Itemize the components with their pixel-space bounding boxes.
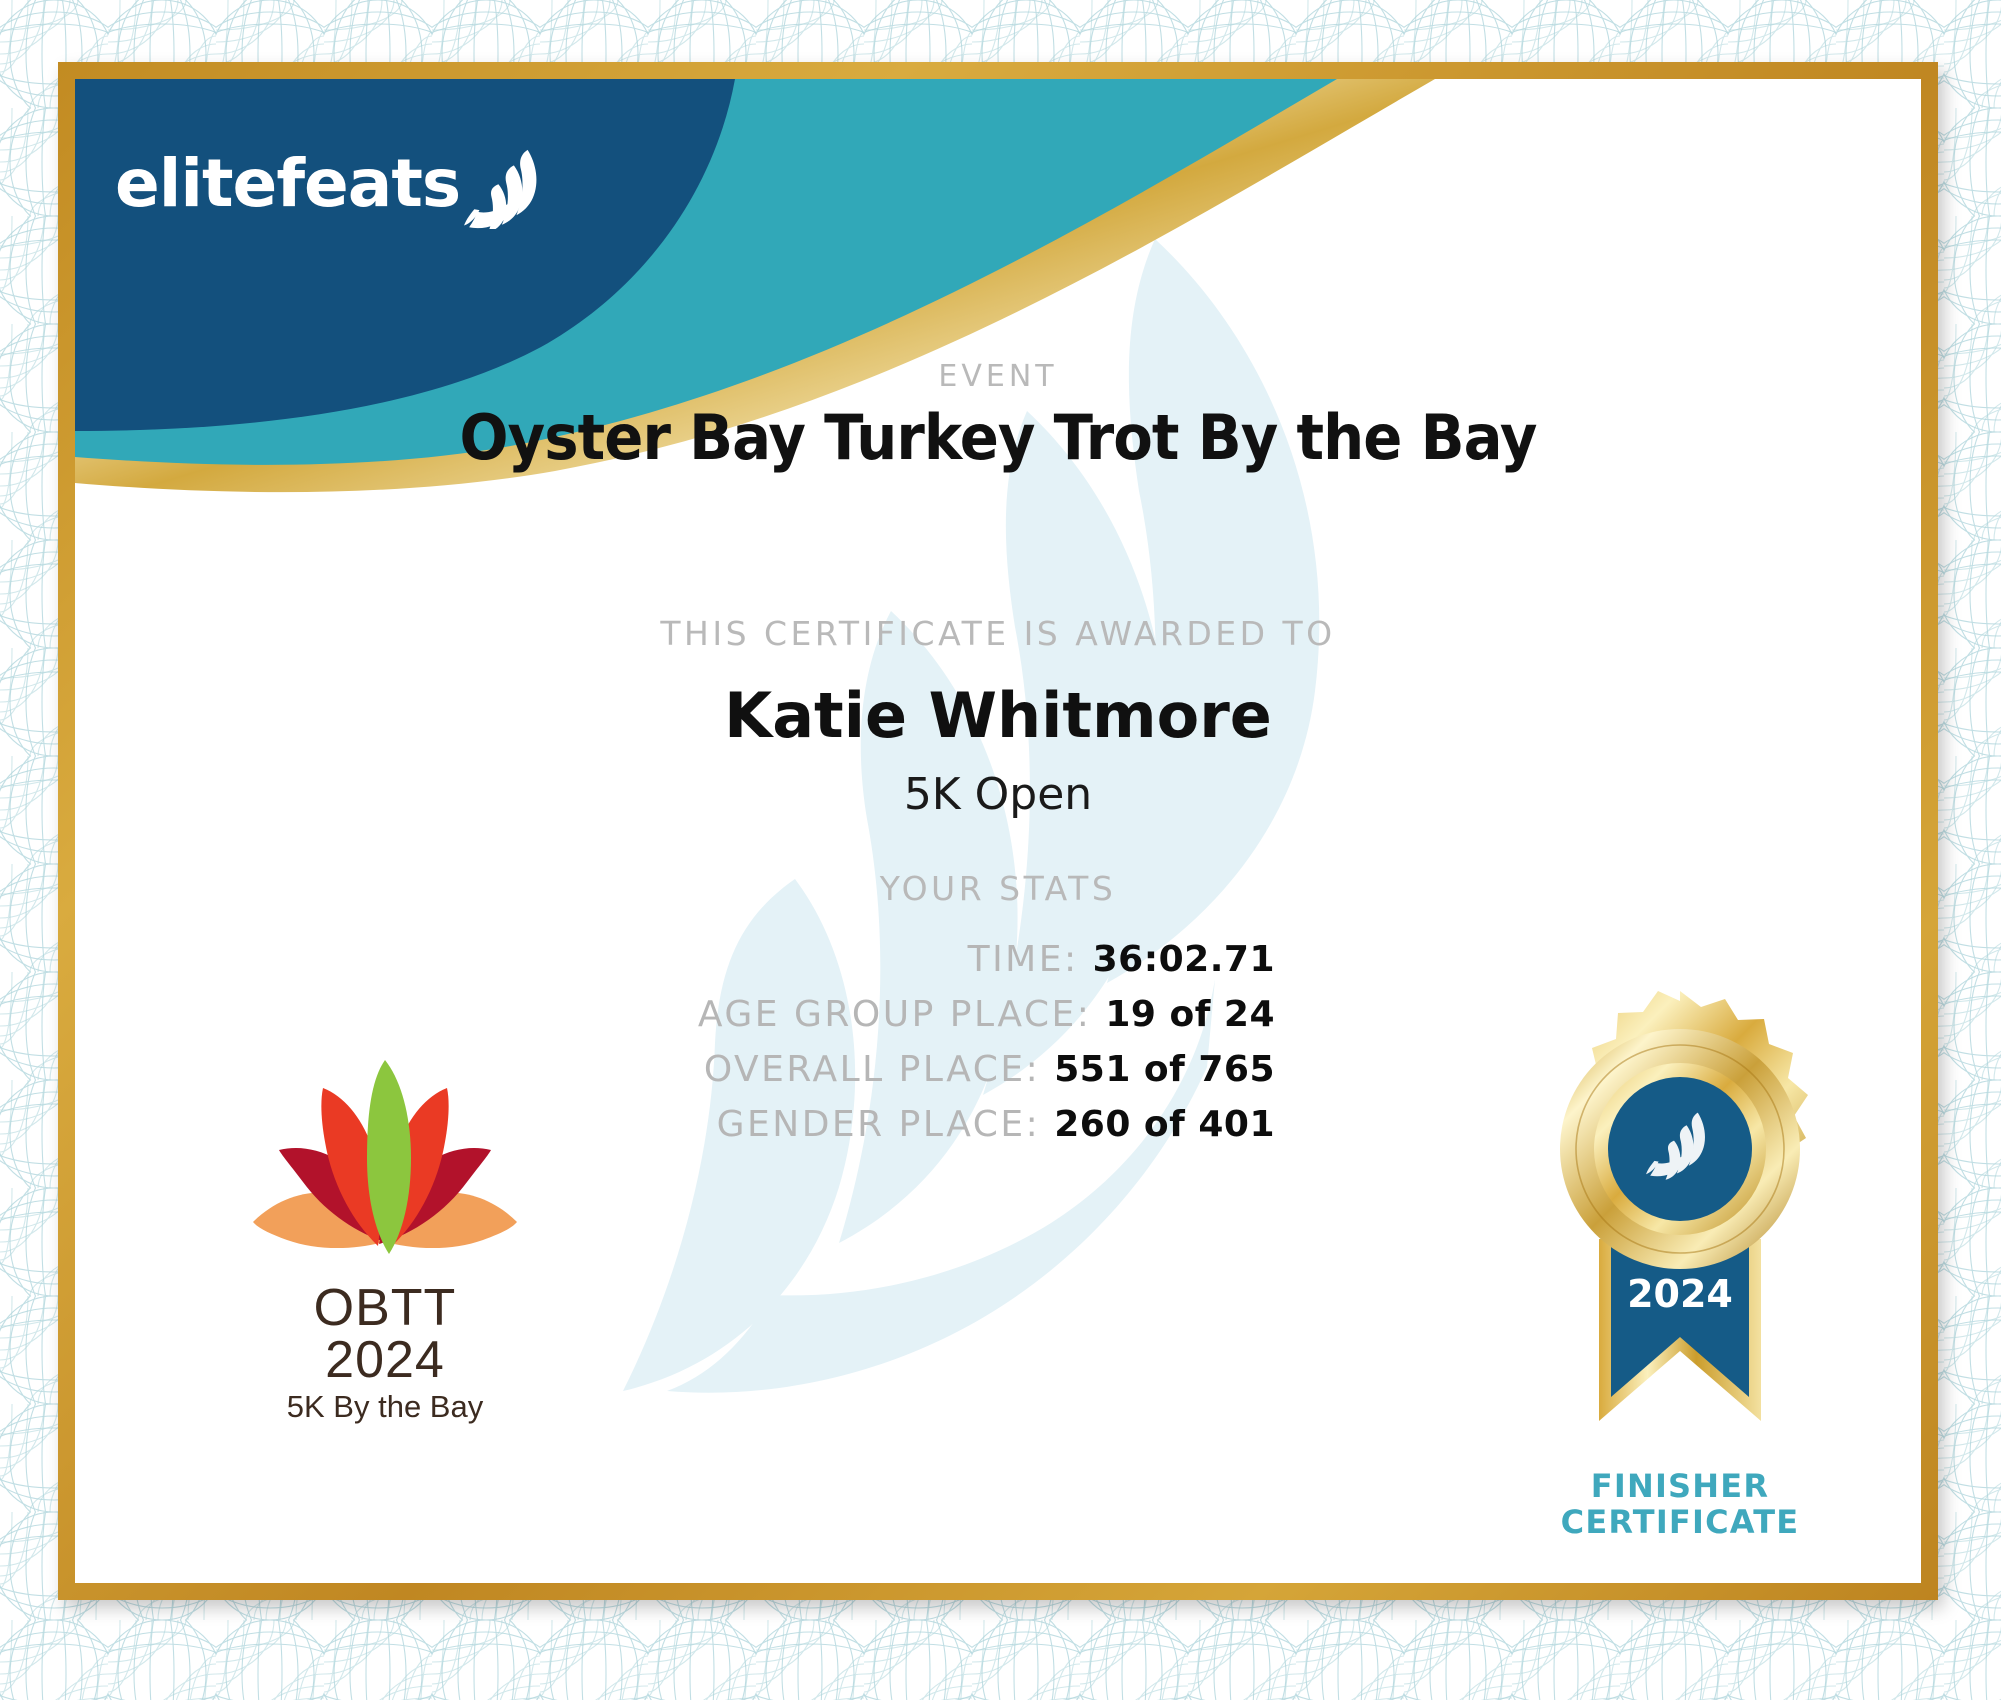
obtt-year: 2024 xyxy=(235,1334,535,1386)
event-label: EVENT xyxy=(75,359,1921,394)
certificate-gold-frame: elitefeats EVENT Oyster Bay Turkey Trot … xyxy=(58,62,1938,1600)
stat-row-time: TIME: 36:02.71 xyxy=(75,939,1275,980)
stat-label-time: TIME: xyxy=(968,939,1079,980)
medal-caption: FINISHER CERTIFICATE xyxy=(1515,1469,1845,1541)
certificate-paper: elitefeats EVENT Oyster Bay Turkey Trot … xyxy=(75,79,1921,1583)
stat-label-gender-place: GENDER PLACE: xyxy=(717,1104,1041,1145)
gold-rosette-medal-icon: 2024 xyxy=(1515,989,1845,1459)
stat-value-time: 36:02.71 xyxy=(1093,939,1275,980)
awarded-to-label: THIS CERTIFICATE IS AWARDED TO xyxy=(75,614,1921,653)
medal-caption-line-1: FINISHER xyxy=(1515,1469,1845,1505)
stat-value-overall-place: 551 of 765 xyxy=(1054,1049,1275,1090)
stat-row-age-group-place: AGE GROUP PLACE: 19 of 24 xyxy=(75,994,1275,1035)
obtt-abbreviation: OBTT xyxy=(235,1282,535,1334)
stat-value-gender-place: 260 of 401 xyxy=(1054,1104,1275,1145)
elitefeats-wordmark: elitefeats xyxy=(115,145,460,222)
turkey-feather-fan-icon xyxy=(235,1054,535,1290)
obtt-logo-text: OBTT 2024 5K By the Bay xyxy=(235,1282,535,1422)
your-stats-label: YOUR STATS xyxy=(75,869,1921,908)
stat-value-age-group-place: 19 of 24 xyxy=(1105,994,1275,1035)
medal-ribbon-year: 2024 xyxy=(1627,1272,1733,1316)
finisher-medal: 2024 xyxy=(1515,989,1845,1549)
stat-label-age-group-place: AGE GROUP PLACE: xyxy=(698,994,1091,1035)
division-name: 5K Open xyxy=(75,769,1921,820)
stat-label-overall-place: OVERALL PLACE: xyxy=(704,1049,1040,1090)
recipient-name: Katie Whitmore xyxy=(75,679,1921,752)
elitefeats-logo: elitefeats xyxy=(115,137,550,229)
obtt-tagline: 5K By the Bay xyxy=(235,1391,535,1422)
event-name: Oyster Bay Turkey Trot By the Bay xyxy=(140,401,1857,474)
obtt-event-logo: OBTT 2024 5K By the Bay xyxy=(235,1054,535,1384)
medal-caption-line-2: CERTIFICATE xyxy=(1515,1505,1845,1541)
winged-foot-icon xyxy=(464,143,550,229)
